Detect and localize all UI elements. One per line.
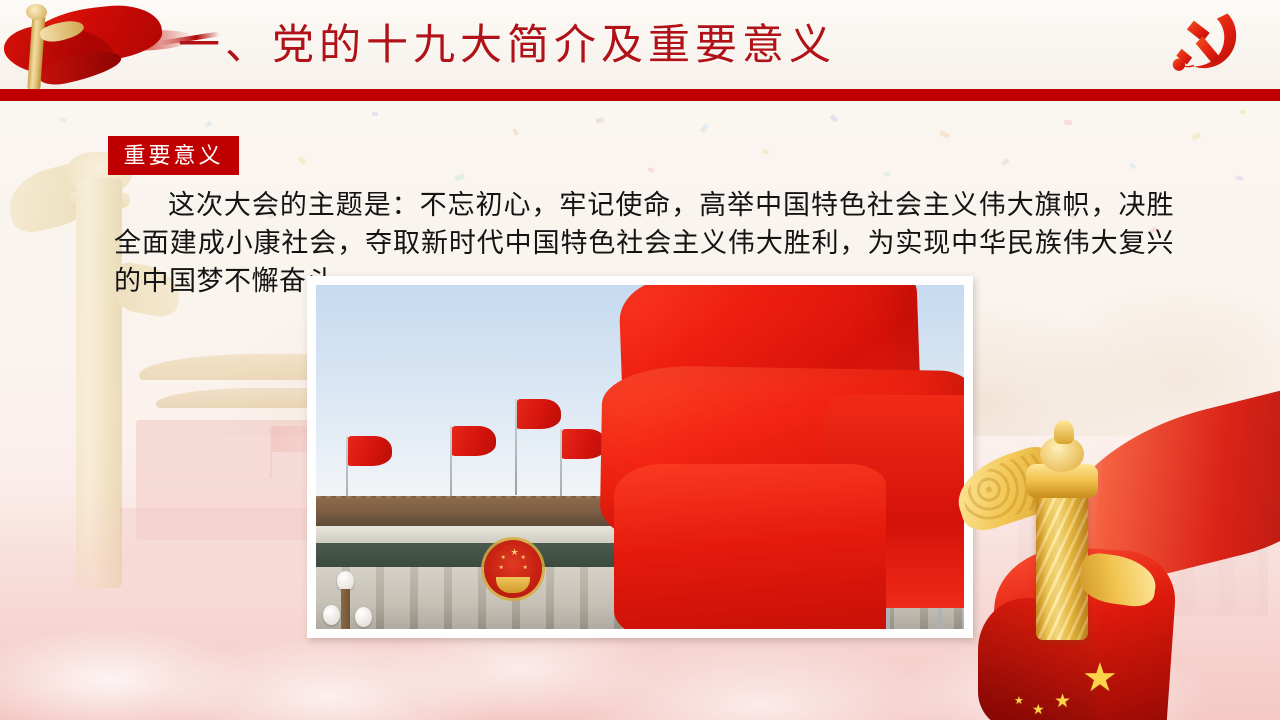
lamp-post: [341, 589, 350, 629]
gold-star-small: ★: [1054, 692, 1071, 711]
decoration-ribbon-lower: [986, 542, 1179, 720]
emblem-gate-shape: [496, 577, 530, 593]
decoration-ribbon-upper: [1032, 380, 1280, 598]
huabiao-shaft: [1036, 492, 1088, 640]
gold-stars-group: ★ ★ ★ ★: [1010, 652, 1140, 712]
gold-star-small: ★: [1014, 696, 1024, 707]
gate-flag: [272, 426, 312, 452]
lamp-globe: [355, 607, 372, 627]
huabiao-wing-right: [1077, 551, 1159, 609]
header-divider: [0, 89, 1280, 101]
lamp-globe: [337, 571, 354, 591]
page-title: 一、党的十九大简介及重要意义: [178, 21, 836, 71]
photo-flag-cloth: [348, 436, 392, 466]
huabiao-finial: [1054, 420, 1074, 444]
city-silhouette-watermark: [1018, 426, 1268, 616]
gold-star-large: ★: [1082, 658, 1118, 698]
lamp-globe: [323, 605, 340, 625]
status-badge: 重要意义: [108, 136, 239, 175]
huabiao-wing-left-watermark: [2, 161, 94, 237]
gold-star-small: ★: [1032, 704, 1045, 718]
photo-flag-cloth: [562, 429, 606, 459]
photo-flag-cloth: [452, 426, 496, 456]
photo-image: ★ ★ ★ ★ ★: [316, 285, 964, 629]
photo-frame: ★ ★ ★ ★ ★: [307, 276, 973, 638]
slide-canvas: 中华人民共和国 一、党的十九大简介及重要意义: [0, 0, 1280, 720]
photo-flag-cloth: [517, 399, 561, 429]
decoration-ribbon-fold: [978, 598, 1098, 720]
party-emblem-icon: [1162, 10, 1254, 84]
huabiao-drum: [1026, 464, 1098, 498]
gate-flagpole: [270, 426, 272, 478]
huabiao-ball: [1040, 436, 1084, 472]
slide-header: 一、党的十九大简介及重要意义: [0, 0, 1280, 101]
huabiao-ribbon-stars-decoration: ★ ★ ★ ★: [950, 420, 1280, 720]
national-emblem-icon: ★ ★ ★ ★ ★: [484, 540, 542, 598]
photo-foreground-flag: [614, 464, 886, 629]
